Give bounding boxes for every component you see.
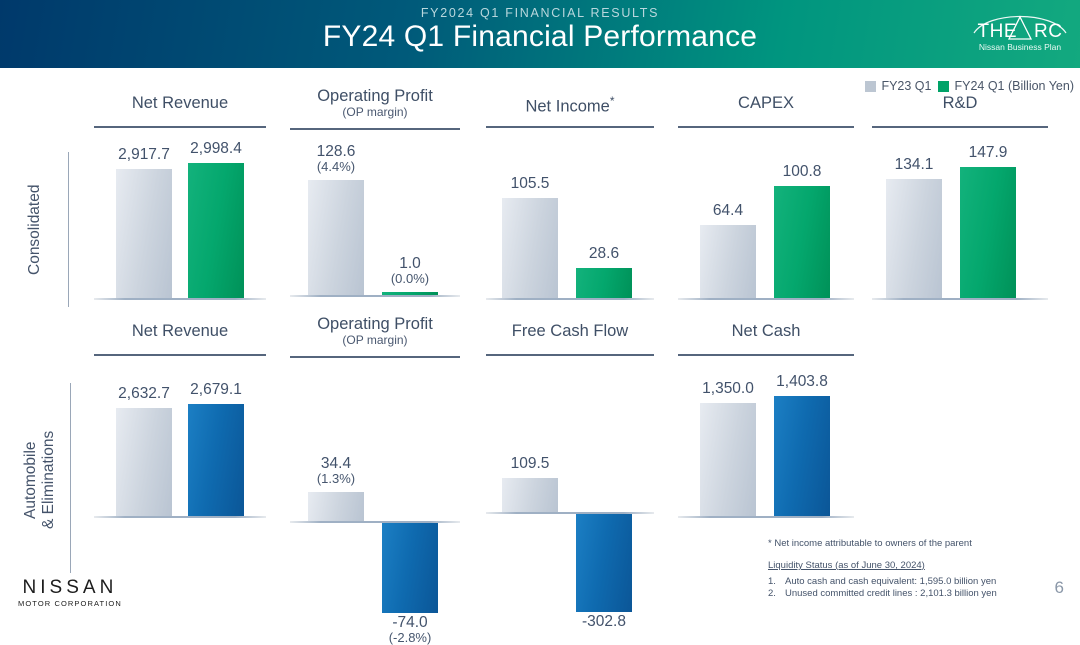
bar-value-label-fy24: 2,998.4 [164, 140, 268, 157]
chart-title-rule [486, 354, 654, 356]
footnotes-block: * Net income attributable to owners of t… [768, 538, 1028, 601]
chart-title-text: Operating Profit [317, 315, 433, 333]
chart-title-text: CAPEX [738, 94, 794, 112]
chart-automobile-net-cash: Net Cash 1,350.0 1,403.8 [678, 323, 854, 523]
chart-baseline [94, 298, 266, 300]
chart-title-text: Net Income [525, 98, 609, 116]
arc-logo-wordmark: THERC [968, 21, 1072, 43]
bar-margin-fy24: (-2.8%) [358, 631, 462, 645]
chart-title-text: R&D [943, 94, 978, 112]
bar-fy23[interactable] [308, 492, 364, 521]
arc-logo-the: THE [978, 21, 1018, 42]
chart-consolidated-operating-profit: Operating Profit (OP margin) 128.6 (4.4%… [290, 88, 460, 310]
chart-plot: 128.6 (4.4%) 1.0 (0.0%) [290, 135, 460, 310]
header-kicker: FY2024 Q1 FINANCIAL RESULTS [0, 6, 1080, 20]
bar-fy24[interactable] [960, 167, 1016, 298]
legend-item-fy24: FY24 Q1 (Billion Yen) [938, 79, 1074, 93]
chart-title: Operating Profit (OP margin) [290, 88, 460, 119]
chart-title-text: Free Cash Flow [512, 322, 628, 340]
bar-fy23[interactable] [502, 198, 558, 298]
bar-margin-fy24: (0.0%) [358, 272, 462, 286]
nissan-sub-wordmark: MOTOR CORPORATION [18, 599, 122, 608]
chart-title-rule [872, 126, 1048, 128]
chart-title-rule [678, 126, 854, 128]
nissan-wordmark: NISSAN [18, 578, 122, 597]
bar-fy24[interactable] [382, 523, 438, 613]
chart-title-rule [290, 128, 460, 130]
chart-plot: 134.1 147.9 [872, 133, 1048, 310]
chart-baseline [678, 516, 854, 518]
bar-value-label-fy23: 34.4 (1.3%) [284, 455, 388, 486]
chart-title: Net Revenue [94, 323, 266, 340]
chart-title-text: Net Revenue [132, 94, 228, 112]
list-item: 1. Auto cash and cash equivalent: 1,595.… [768, 576, 1028, 589]
chart-consolidated-net-revenue: Net Revenue 2,917.7 2,998.4 [94, 95, 266, 310]
bar-fy23[interactable] [886, 179, 942, 298]
bar-value-label-fy24: -74.0 (-2.8%) [358, 614, 462, 645]
bar-fy23[interactable] [700, 225, 756, 298]
bar-fy23[interactable] [700, 403, 756, 516]
chart-title: R&D [872, 95, 1048, 112]
chart-automobile-net-revenue: Net Revenue 2,632.7 2,679.1 [94, 323, 266, 523]
chart-plot: 109.5 -302.8 [486, 361, 654, 612]
bar-value-fy24: -74.0 [392, 614, 427, 631]
bar-fy23[interactable] [116, 408, 172, 516]
bar-fy24[interactable] [188, 163, 244, 298]
chart-legend: FY23 Q1 FY24 Q1 (Billion Yen) [865, 79, 1074, 93]
chart-title-text: Operating Profit [317, 87, 433, 105]
the-arc-logo: THERC Nissan Business Plan [968, 9, 1072, 57]
chart-plot: 105.5 28.6 [486, 133, 654, 310]
chart-automobile-operating-profit: Operating Profit (OP margin) 34.4 (1.3%)… [290, 316, 460, 612]
page-number: 6 [1055, 578, 1064, 598]
chart-title-rule [486, 126, 654, 128]
chart-plot: 2,632.7 2,679.1 [94, 361, 266, 523]
bar-value-label-fy23: 128.6 (4.4%) [284, 143, 388, 174]
bar-value-label-fy24: 28.6 [552, 245, 656, 262]
footnote-net-income: * Net income attributable to owners of t… [768, 538, 1028, 551]
chart-title: Free Cash Flow [486, 323, 654, 340]
chart-baseline [872, 298, 1048, 300]
slide-header: FY2024 Q1 FINANCIAL RESULTS FY24 Q1 Fina… [0, 0, 1080, 68]
chart-plot: 34.4 (1.3%) -74.0 (-2.8%) [290, 363, 460, 612]
arc-logo-rc: RC [1034, 21, 1062, 42]
list-item: 2. Unused committed credit lines : 2,101… [768, 588, 1028, 601]
bar-fy23[interactable] [308, 180, 364, 295]
bar-value-label-fy23: 105.5 [478, 175, 582, 192]
chart-title-rule [94, 126, 266, 128]
footnote-liquidity-heading: Liquidity Status (as of June 30, 2024) [768, 560, 1028, 573]
chart-title-text: Net Revenue [132, 322, 228, 340]
bar-margin-fy23: (4.4%) [284, 160, 388, 174]
bar-value-label-fy23: 64.4 [676, 202, 780, 219]
bar-value-label-fy24: 100.8 [750, 163, 854, 180]
chart-plot: 1,350.0 1,403.8 [678, 361, 854, 523]
chart-title-rule [678, 354, 854, 356]
footnote-item-text: Unused committed credit lines : 2,101.3 … [785, 588, 997, 601]
legend-swatch-icon-fy23 [865, 81, 876, 92]
chart-title-rule [94, 354, 266, 356]
chart-consolidated-rd: R&D 134.1 147.9 [872, 95, 1048, 310]
chart-subtitle-text: (OP margin) [290, 334, 460, 347]
bar-value-fy23: 128.6 [317, 143, 356, 160]
chart-consolidated-capex: CAPEX 64.4 100.8 [678, 95, 854, 310]
chart-title: CAPEX [678, 95, 854, 112]
chart-title: Net Income* [486, 95, 654, 116]
footnote-item-number: 2. [768, 588, 779, 601]
row-rule-consolidated [68, 152, 69, 307]
legend-swatch-icon-fy24 [938, 81, 949, 92]
row-rule-automobile [70, 383, 71, 573]
bar-fy23[interactable] [502, 478, 558, 512]
nissan-logo: NISSAN MOTOR CORPORATION [18, 578, 122, 608]
chart-baseline [94, 516, 266, 518]
bar-fy24[interactable] [188, 404, 244, 516]
chart-title: Net Cash [678, 323, 854, 340]
row-label-automobile: Automobile & Eliminations [22, 390, 60, 570]
footnote-item-text: Auto cash and cash equivalent: 1,595.0 b… [785, 576, 996, 589]
bar-fy23[interactable] [116, 169, 172, 298]
chart-title-footnote-marker: * [610, 94, 615, 108]
bar-value-label-fy23: 109.5 [478, 455, 582, 472]
chart-title-text: Net Cash [732, 322, 801, 340]
chart-baseline [486, 298, 654, 300]
bar-fy24[interactable] [382, 292, 438, 295]
chart-consolidated-net-income: Net Income* 105.5 28.6 [486, 95, 654, 310]
chart-baseline [678, 298, 854, 300]
bar-value-label-fy24: 2,679.1 [164, 381, 268, 398]
bar-fy24[interactable] [774, 396, 830, 516]
bar-value-fy24: 1.0 [399, 255, 421, 272]
legend-label-fy24: FY24 Q1 (Billion Yen) [954, 79, 1074, 93]
chart-plot: 2,917.7 2,998.4 [94, 133, 266, 310]
chart-title: Net Revenue [94, 95, 266, 112]
bar-fy24[interactable] [576, 514, 632, 612]
chart-title-rule [290, 356, 460, 358]
legend-item-fy23: FY23 Q1 [865, 79, 931, 93]
chart-subtitle-text: (OP margin) [290, 106, 460, 119]
bar-value-label-fy24: 1.0 (0.0%) [358, 255, 462, 286]
page-title: FY24 Q1 Financial Performance [0, 20, 1080, 54]
chart-title: Operating Profit (OP margin) [290, 316, 460, 347]
footnote-liquidity-list: 1. Auto cash and cash equivalent: 1,595.… [768, 576, 1028, 602]
bar-value-label-fy24: 1,403.8 [750, 373, 854, 390]
arc-logo-subtitle: Nissan Business Plan [968, 42, 1072, 52]
bar-value-fy23: 34.4 [321, 455, 351, 472]
bar-fy24[interactable] [774, 186, 830, 298]
row-label-consolidated: Consolidated [26, 155, 50, 305]
footnote-item-number: 1. [768, 576, 779, 589]
chart-automobile-free-cash-flow: Free Cash Flow 109.5 -302.8 [486, 323, 654, 612]
legend-label-fy23: FY23 Q1 [881, 79, 931, 93]
bar-margin-fy23: (1.3%) [284, 472, 388, 486]
bar-fy24[interactable] [576, 268, 632, 298]
bar-value-label-fy24: -302.8 [552, 613, 656, 630]
bar-value-label-fy24: 147.9 [936, 144, 1040, 161]
chart-plot: 64.4 100.8 [678, 133, 854, 310]
chart-baseline [290, 295, 460, 297]
